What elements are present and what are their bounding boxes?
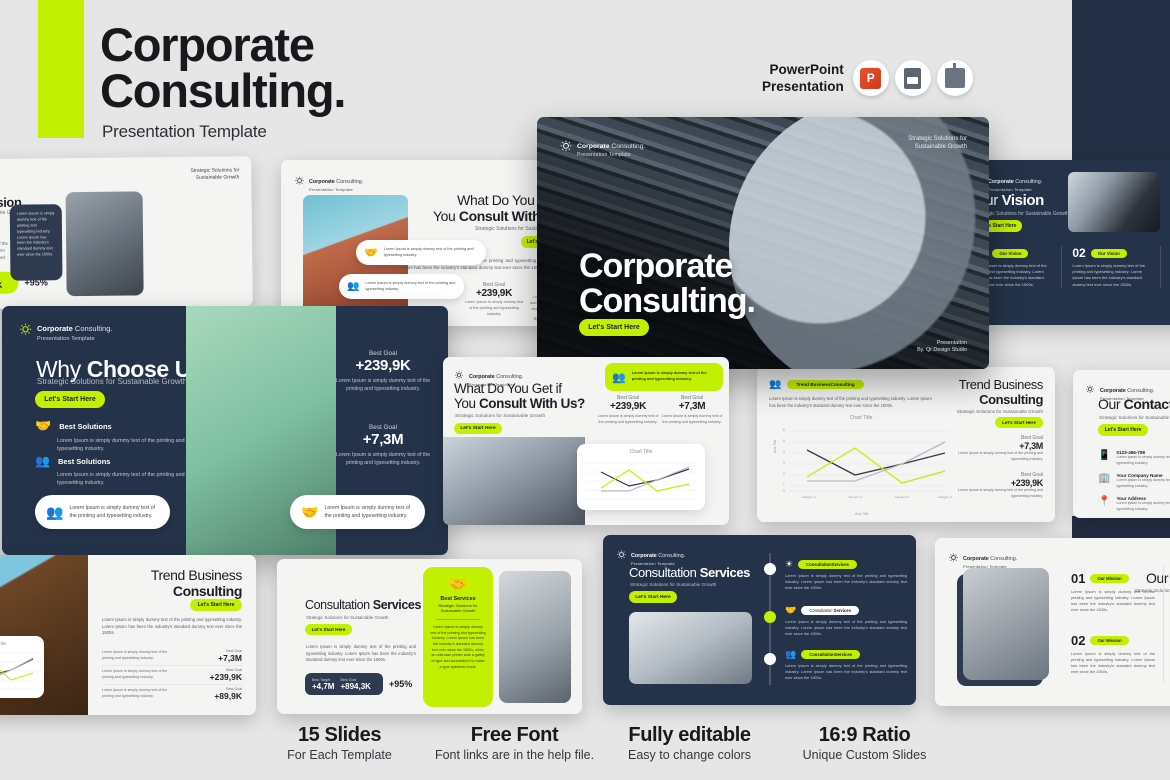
svg-text:Category 3: Category 3 bbox=[895, 495, 910, 499]
chart-title: Chart Title bbox=[577, 444, 705, 455]
stat-best-target: Best Target +4,7M bbox=[312, 678, 334, 691]
lightbulb-sun-icon bbox=[616, 550, 627, 561]
cta-button[interactable]: Let's Start Here bbox=[629, 591, 677, 603]
location-pin-icon: 📍 bbox=[1098, 496, 1110, 512]
timeline-dot bbox=[764, 563, 776, 575]
lightbulb-sun-icon bbox=[559, 140, 573, 154]
feature-title: Free Font bbox=[427, 724, 602, 747]
svg-text:1: 1 bbox=[783, 483, 785, 487]
timeline-item: 🤝 Consultation Services Lorem Ipsum is s… bbox=[785, 605, 907, 637]
svg-text:Category 4: Category 4 bbox=[938, 495, 953, 499]
mission-item: 02 Our Mission Lorem Ipsum is simply dum… bbox=[1071, 633, 1155, 675]
handshake-icon: 🤝 bbox=[430, 575, 486, 593]
lounge-image bbox=[499, 571, 571, 703]
lightbulb-sun-icon bbox=[18, 323, 33, 338]
feature-badge[interactable]: 👥 Lorem Ipsum is simply dummy text of th… bbox=[605, 363, 723, 391]
panel-title: Best Services bbox=[430, 596, 486, 602]
feature-row: 15 Slides For Each Template Free Font Fo… bbox=[252, 724, 952, 762]
feature-15-slides: 15 Slides For Each Template bbox=[252, 724, 427, 762]
feature-16-9-ratio: 16:9 Ratio Unique Custom Slides bbox=[777, 724, 952, 762]
stat-best-goal: Best Goal +7,3M Lorem Ipsum is simply du… bbox=[659, 395, 725, 425]
slide-heading: Trend Business Consulting bbox=[959, 377, 1043, 407]
slide-subheading: Strategic Solutions for Sustainable Grow… bbox=[1099, 415, 1170, 420]
powerpoint-icon[interactable]: P bbox=[853, 60, 889, 96]
info-card[interactable]: 👥 Lorem Ipsum is simply dummy text of th… bbox=[35, 495, 170, 529]
feature-fully-editable: Fully editable Easy to change colors bbox=[602, 724, 777, 762]
vision-item: 02 Our Vision Lorem Ipsum is simply dumm… bbox=[1072, 246, 1160, 288]
team-icon: 👥 bbox=[35, 454, 50, 468]
slide-why-choose-us[interactable]: Corporate Consulting. Presentation Templ… bbox=[2, 306, 448, 555]
stat-best-goal: Best Goal +7,3M Lorem Ipsum is simply du… bbox=[328, 424, 438, 467]
slide-our-vision[interactable]: Corporate Consulting. Presentation Templ… bbox=[960, 160, 1170, 325]
timeline-dot bbox=[764, 653, 776, 665]
page-subtitle: Presentation Template bbox=[102, 122, 267, 142]
slide-vision-mission[interactable]: Corporate Consulting. Presentation Templ… bbox=[0, 156, 253, 310]
cta-button[interactable]: Let's Start Here bbox=[190, 599, 242, 611]
best-services-panel: 🤝 Best Services Strategic Solutions for … bbox=[423, 567, 493, 707]
slide-our-contact[interactable]: Corporate Consulting. Presentation Templ… bbox=[1073, 370, 1170, 518]
cta-button[interactable]: Let's Start Here bbox=[579, 319, 649, 336]
stat-best-goal: Best Goal +239,9K Lorem Ipsum is simply … bbox=[463, 282, 525, 318]
team-icon: 👥 bbox=[46, 504, 63, 521]
brand-logo: Corporate Consulting. Presentation Templ… bbox=[616, 544, 685, 567]
svg-text:Category 2: Category 2 bbox=[848, 495, 863, 499]
feature-pill[interactable]: 🤝 Lorem Ipsum is simply dummy text of th… bbox=[356, 240, 486, 265]
slide-subheading: Strategic Solutions for Sustainable Grow… bbox=[630, 582, 716, 587]
team-icon: 👥 bbox=[785, 649, 796, 660]
building-icon: 🏢 bbox=[1098, 473, 1110, 489]
format-icon-list: P bbox=[853, 60, 973, 96]
hero-credit: PresentationBy. Qr Design Studio bbox=[917, 340, 967, 355]
stat-best-goal: Best Goal +894,3K bbox=[340, 678, 370, 691]
slide-heading: Our Contact bbox=[1098, 396, 1170, 412]
feature-subtitle: Unique Custom Slides bbox=[777, 748, 952, 762]
svg-text:4: 4 bbox=[783, 450, 785, 454]
contact-item[interactable]: 📍 Your Address Lorem Ipsum is simply dum… bbox=[1098, 496, 1170, 512]
contact-item[interactable]: 🏢 Your Company Name Lorem Ipsum is simpl… bbox=[1098, 473, 1170, 489]
svg-text:2: 2 bbox=[783, 472, 785, 476]
right-dark-block-top bbox=[1072, 0, 1170, 160]
contact-item-list: 📱 0123-456-789 Lorem Ipsum is simply dum… bbox=[1098, 450, 1170, 512]
slide-body-text: Lorem Ipsum is simply dummy text of the … bbox=[0, 241, 10, 269]
poster-canvas: Corporate Consulting. Presentation Templ… bbox=[0, 0, 1170, 780]
stat-best-goal: Best Goal +239,9K Lorem Ipsum is simply … bbox=[328, 350, 438, 393]
contact-item[interactable]: 📱 0123-456-789 Lorem Ipsum is simply dum… bbox=[1098, 450, 1170, 466]
mission-item-badge[interactable]: Our Mission bbox=[1090, 574, 1128, 583]
handshake-icon: 🤝 bbox=[301, 504, 318, 521]
mission-item-number: 01 bbox=[1071, 571, 1085, 586]
lightbulb-sun-icon bbox=[948, 553, 959, 564]
lightbulb-sun-icon: ☀ bbox=[785, 559, 793, 570]
team-icon: 👥 bbox=[612, 371, 626, 384]
timeline-badge[interactable]: Consultation Services bbox=[798, 560, 857, 569]
goal-row: Lorem Ipsum is simply dummy text of the … bbox=[102, 685, 242, 703]
chart-title: Chart Title bbox=[0, 636, 44, 646]
slide-heading: Trend Business Consulting bbox=[151, 567, 242, 599]
feature-subtitle: Font links are in the help file. bbox=[427, 748, 602, 762]
page-title-line2: Consulting. bbox=[100, 68, 640, 114]
brand-logo: Corporate Consulting. Presentation Templ… bbox=[18, 318, 112, 343]
mission-item-number: 02 bbox=[1071, 633, 1085, 648]
line-chart: Chart Title bbox=[577, 444, 705, 510]
hero-title-line1: Corporate bbox=[579, 249, 755, 284]
brand-logo: Corporate Consulting. Presentation Templ… bbox=[948, 547, 1017, 570]
slide-what-do-you-get-top[interactable]: Corporate Consulting. Presentation Templ… bbox=[281, 160, 581, 326]
portrait-image bbox=[963, 568, 1049, 680]
format-badge: PowerPoint Presentation P bbox=[762, 60, 973, 96]
timeline-badge[interactable]: Consultation Services bbox=[801, 606, 859, 615]
line-chart: Chart Title bbox=[0, 636, 44, 698]
page-title-line1: Corporate bbox=[100, 22, 640, 68]
slide-consultation-services-dark[interactable]: Corporate Consulting. Presentation Templ… bbox=[603, 535, 916, 705]
badge-row: 👥 Trend BusinessConsulting bbox=[769, 379, 864, 390]
slide-subheading: Strategic Solutions for Sustainable Grow… bbox=[975, 211, 1069, 217]
office-hall-image bbox=[629, 612, 752, 684]
goal-row: Lorem Ipsum is simply dummy text of the … bbox=[102, 666, 242, 685]
info-card[interactable]: 🤝 Lorem Ipsum is simply dummy text of th… bbox=[290, 495, 425, 529]
cta-button[interactable]: Let's Start Here bbox=[454, 423, 502, 434]
slide-our-mission[interactable]: Corporate Consulting. Presentation Templ… bbox=[935, 538, 1170, 706]
timeline-dot bbox=[764, 611, 776, 623]
feature-title: 16:9 Ratio bbox=[777, 724, 952, 747]
vision-item-list: 01 Our Vision Lorem Ipsum is simply dumm… bbox=[974, 246, 1170, 288]
mission-item: 01 Our Mission Lorem Ipsum is simply dum… bbox=[1071, 571, 1155, 613]
architecture-image bbox=[1068, 172, 1160, 232]
chart-title: Chart Title bbox=[767, 415, 955, 421]
svg-text:6: 6 bbox=[783, 428, 785, 432]
keynote-icon[interactable] bbox=[937, 60, 973, 96]
timeline-item: ☀ Consultation Services Lorem Ipsum is s… bbox=[785, 559, 907, 591]
portrait-image bbox=[66, 191, 144, 296]
cta-button[interactable]: Let's Start Here bbox=[995, 417, 1043, 428]
stat-best-goal: Best Goal +239,9K Lorem Ipsum is simply … bbox=[595, 395, 661, 425]
page-title: Corporate Consulting. bbox=[100, 22, 640, 113]
handshake-icon: 🤝 bbox=[35, 418, 51, 434]
vision-item-badge[interactable]: Our Vision bbox=[992, 249, 1028, 258]
goal-row: Lorem Ipsum is simply dummy text of the … bbox=[102, 647, 242, 666]
line-chart: Chart Title Axis Title 012 3456 Category bbox=[767, 415, 955, 513]
slide-tagline: Strategic Solutions forSustainable Growt… bbox=[908, 135, 967, 151]
slide-body-text: Lorem Ipsum is simply dummy text of the … bbox=[306, 644, 416, 664]
handshake-icon: 🤝 bbox=[364, 246, 378, 259]
cta-button[interactable]: Let's Start Here bbox=[1098, 424, 1148, 436]
slide-heading: Consultation Services bbox=[305, 598, 421, 612]
slide-heading: What Do You Get if You Consult With Us? bbox=[454, 381, 585, 411]
brand-logo: Corporate Consulting. Presentation Templ… bbox=[559, 135, 645, 159]
format-badge-text: PowerPoint Presentation bbox=[762, 61, 844, 96]
vision-item-badge[interactable]: Our Vision bbox=[1091, 249, 1127, 258]
slide-trend-business-bottom[interactable]: Trend Business Consulting Let's Start He… bbox=[0, 555, 256, 715]
format-badge-line1: PowerPoint bbox=[762, 61, 844, 78]
stat-best-goal: Best Goal +894,3K bbox=[0, 276, 2, 290]
brand-logo: Corporate Consulting. Presentation Templ… bbox=[294, 170, 363, 193]
hero-title-line2: Consulting. bbox=[579, 284, 755, 319]
google-slides-icon[interactable] bbox=[895, 60, 931, 96]
svg-text:5: 5 bbox=[783, 439, 785, 443]
slide-trend-business-mid[interactable]: 👥 Trend BusinessConsulting Lorem Ipsum i… bbox=[757, 367, 1055, 522]
slide-heading: Consultation Services bbox=[629, 565, 750, 580]
feature-item: 👥 Best Solutions Lorem Ipsum is simply d… bbox=[35, 454, 185, 488]
feature-item: 🤝 Best Solutions Lorem Ipsum is simply d… bbox=[35, 418, 185, 454]
stat-percent: +95% bbox=[389, 679, 412, 689]
stat-best-goal: Best Goal +239,9K Lorem Ipsum is simply … bbox=[945, 472, 1043, 499]
lightbulb-sun-icon bbox=[294, 176, 305, 187]
slide-tagline: Strategic Solutions forSustainable Growt… bbox=[190, 167, 239, 181]
team-icon: 👥 bbox=[347, 281, 359, 292]
quote-card: Lorem Ipsum is simply dummy text of the … bbox=[10, 204, 63, 281]
slide-subheading: Strategic Solutions for Sustainable Grow… bbox=[455, 414, 545, 419]
lightbulb-sun-icon bbox=[1085, 385, 1096, 396]
feature-title: Best Solutions bbox=[59, 422, 112, 431]
badge-trend-business[interactable]: Trend BusinessConsulting bbox=[787, 380, 863, 389]
slide-what-do-you-get-mid[interactable]: Corporate Consulting. Presentation Templ… bbox=[443, 357, 729, 525]
meeting-image bbox=[443, 437, 585, 525]
slide-subheading: Strategic Solutions for Sustainable Grow… bbox=[306, 615, 389, 620]
feature-free-font: Free Font Font links are in the help fil… bbox=[427, 724, 602, 762]
stat-best-goal: Best Goal +7,3M Lorem Ipsum is simply du… bbox=[945, 435, 1043, 462]
accent-bar bbox=[38, 0, 84, 138]
svg-text:3: 3 bbox=[783, 461, 785, 465]
vision-item-number: 02 bbox=[1072, 246, 1085, 260]
goal-row-list: Lorem Ipsum is simply dummy text of the … bbox=[102, 647, 242, 703]
panel-subtitle: Strategic Solutions for Sustainable Grow… bbox=[430, 603, 486, 614]
slide-hero[interactable]: Corporate Consulting. Presentation Templ… bbox=[537, 117, 989, 369]
slide-consultation-services-light[interactable]: Consultation Services Strategic Solution… bbox=[277, 559, 582, 714]
handshake-icon: 🤝 bbox=[785, 605, 796, 616]
cta-button[interactable]: Let's Start Here bbox=[305, 624, 352, 635]
svg-text:0: 0 bbox=[783, 489, 785, 493]
svg-text:Category 1: Category 1 bbox=[802, 495, 817, 499]
slide-body-text: Lorem Ipsum is simply dummy text of the … bbox=[102, 617, 242, 637]
stat-group: Best Target +4,7M Best Goal +894,3K bbox=[305, 673, 383, 695]
chart-x-axis-label: Axis Title bbox=[855, 512, 869, 516]
hero-curve-decoration bbox=[729, 117, 989, 369]
team-icon: 👥 bbox=[769, 379, 781, 390]
feature-title: 15 Slides bbox=[252, 724, 427, 747]
slide-subheading: Strategic Solutions for Sustainable Grow… bbox=[37, 377, 187, 386]
hero-title: Corporate Consulting. bbox=[579, 249, 755, 320]
slide-body-text: Lorem Ipsum is simply dummy text of the … bbox=[769, 396, 934, 409]
feature-title: Fully editable bbox=[602, 724, 777, 747]
timeline-item: 👥 Consultation Services Lorem Ipsum is s… bbox=[785, 649, 907, 681]
feature-subtitle: Easy to change colors bbox=[602, 748, 777, 762]
mission-item-badge[interactable]: Our Mission bbox=[1090, 636, 1128, 645]
feature-subtitle: For Each Template bbox=[252, 748, 427, 762]
phone-icon: 📱 bbox=[1098, 450, 1110, 466]
feature-pill[interactable]: 👥 Lorem Ipsum is simply dummy text of th… bbox=[339, 274, 464, 299]
timeline-badge[interactable]: Consultation Services bbox=[801, 650, 860, 659]
cta-button[interactable]: Let's Start Here bbox=[35, 391, 105, 408]
slide-subheading: Strategic Solutions for Sustainable Grow… bbox=[957, 409, 1043, 414]
powerpoint-glyph: P bbox=[867, 71, 875, 85]
feature-title: Best Solutions bbox=[58, 457, 111, 466]
format-badge-line2: Presentation bbox=[762, 78, 844, 95]
